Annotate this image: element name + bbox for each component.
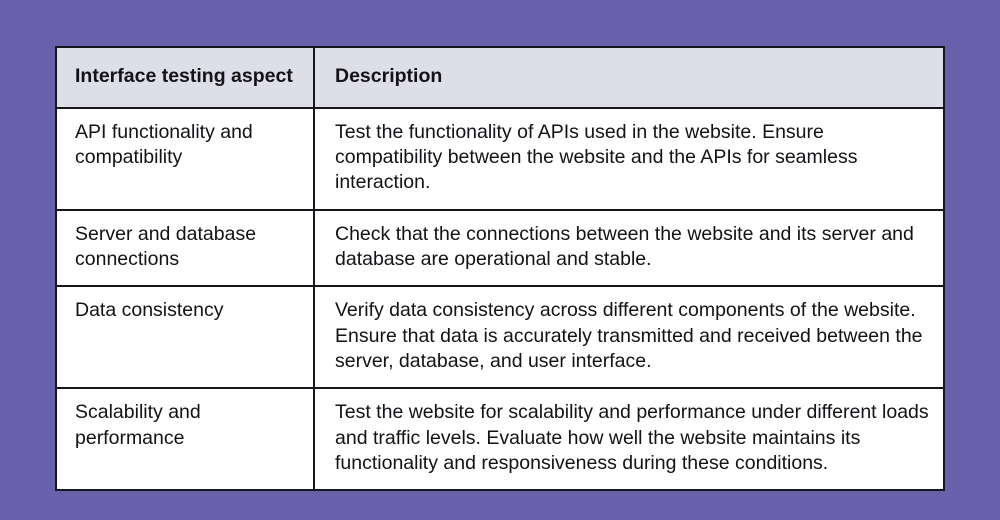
aspect-text: Data consistency [75, 298, 297, 323]
table-cell-aspect: Scalability and performance [56, 388, 314, 490]
table-cell-aspect: API functionality and compatibility [56, 108, 314, 210]
table-cell-description: Check that the connections between the w… [314, 210, 944, 287]
table-body: API functionality and compatibility Test… [56, 108, 944, 491]
column-header-aspect-label: Interface testing aspect [75, 64, 297, 89]
table-cell-aspect: Server and database connections [56, 210, 314, 287]
table-cell-description: Test the website for scalability and per… [314, 388, 944, 490]
description-text: Test the functionality of APIs used in t… [335, 120, 929, 196]
table-row: API functionality and compatibility Test… [56, 108, 944, 210]
table-cell-description: Test the functionality of APIs used in t… [314, 108, 944, 210]
aspect-text: Scalability and performance [75, 400, 297, 451]
table-header-row: Interface testing aspect Description [56, 47, 944, 108]
column-header-aspect: Interface testing aspect [56, 47, 314, 108]
column-header-description-label: Description [335, 64, 927, 89]
interface-testing-table: Interface testing aspect Description API… [55, 46, 945, 491]
table-row: Server and database connections Check th… [56, 210, 944, 287]
description-text: Test the website for scalability and per… [335, 400, 929, 476]
table-cell-aspect: Data consistency [56, 286, 314, 388]
table-container: Interface testing aspect Description API… [55, 46, 943, 491]
aspect-text: API functionality and compatibility [75, 120, 297, 171]
description-text: Verify data consistency across different… [335, 298, 929, 374]
table-row: Data consistency Verify data consistency… [56, 286, 944, 388]
column-header-description: Description [314, 47, 944, 108]
page-root: Interface testing aspect Description API… [0, 0, 1000, 520]
description-text: Check that the connections between the w… [335, 222, 929, 273]
table-header: Interface testing aspect Description [56, 47, 944, 108]
table-row: Scalability and performance Test the web… [56, 388, 944, 490]
table-cell-description: Verify data consistency across different… [314, 286, 944, 388]
aspect-text: Server and database connections [75, 222, 297, 273]
